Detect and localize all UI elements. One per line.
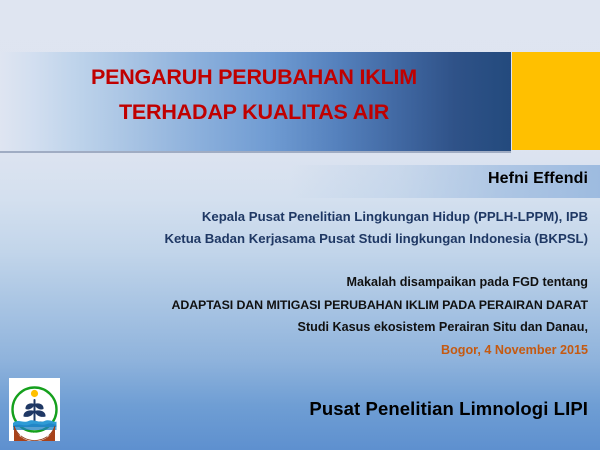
pplh-ipb-logo-icon: PPLH-IPB: [9, 378, 60, 441]
presentation-slide: PENGARUH PERUBAHAN IKLIM TERHADAP KUALIT…: [0, 0, 600, 450]
pplh-ipb-logo-caption: PPLH-IPB: [20, 433, 50, 439]
affiliation-line-1: Kepala Pusat Penelitian Lingkungan Hidup…: [0, 206, 588, 228]
event-details: Makalah disampaikan pada FGD tentang ADA…: [0, 271, 588, 361]
event-theme: ADAPTASI DAN MITIGASI PERUBAHAN IKLIM PA…: [0, 294, 588, 317]
footer-organization: Pusat Penelitian Limnologi LIPI: [309, 398, 588, 420]
event-subtheme: Studi Kasus ekosistem Perairan Situ dan …: [0, 316, 588, 339]
affiliation-line-2: Ketua Badan Kerjasama Pusat Studi lingku…: [0, 228, 588, 250]
slide-title: PENGARUH PERUBAHAN IKLIM TERHADAP KUALIT…: [18, 60, 490, 130]
event-intro: Makalah disampaikan pada FGD tentang: [0, 271, 588, 294]
title-banner-shadow: [0, 151, 511, 153]
author-name: Hefni Effendi: [488, 170, 588, 188]
affiliation-list: Kepala Pusat Penelitian Lingkungan Hidup…: [0, 206, 588, 250]
title-accent-block: [512, 52, 600, 150]
event-place-date: Bogor, 4 November 2015: [0, 339, 588, 362]
pplh-ipb-logo: PPLH-IPB: [9, 378, 60, 441]
